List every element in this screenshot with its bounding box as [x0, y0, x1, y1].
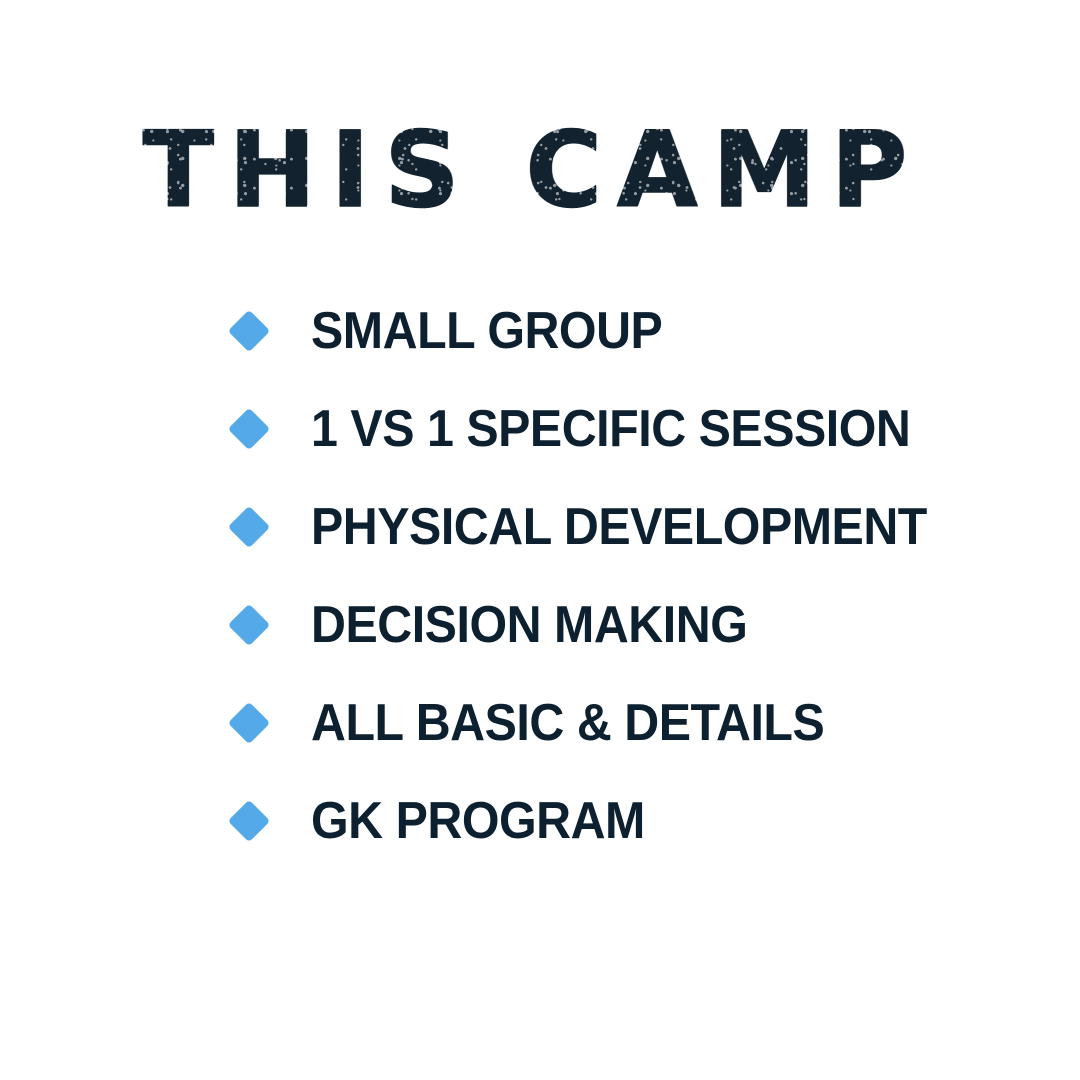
list-item: 1 VS 1 SPECIFIC SESSION — [228, 380, 1048, 478]
list-item: DECISION MAKING — [228, 576, 1048, 674]
list-item: SMALL GROUP — [228, 282, 1048, 380]
list-item: PHYSICAL DEVELOPMENT — [228, 478, 1048, 576]
feature-label: SMALL GROUP — [311, 305, 662, 357]
feature-label: 1 VS 1 SPECIFIC SESSION — [311, 403, 910, 455]
diamond-icon — [228, 310, 270, 352]
feature-label: DECISION MAKING — [311, 599, 747, 651]
poster-canvas: THIS CAMP SMALL GROUP 1 VS 1 SPECIFIC SE… — [0, 0, 1080, 1080]
feature-label: PHYSICAL DEVELOPMENT — [311, 501, 927, 553]
diamond-icon — [228, 604, 270, 646]
list-item: ALL BASIC & DETAILS — [228, 674, 1048, 772]
page-title: THIS CAMP — [143, 116, 937, 225]
feature-label: ALL BASIC & DETAILS — [311, 697, 824, 749]
diamond-icon — [228, 800, 270, 842]
feature-list: SMALL GROUP 1 VS 1 SPECIFIC SESSION PHYS… — [228, 282, 1048, 870]
diamond-icon — [228, 408, 270, 450]
diamond-icon — [228, 506, 270, 548]
feature-label: GK PROGRAM — [311, 795, 645, 847]
diamond-icon — [228, 702, 270, 744]
page-title-block: THIS CAMP — [0, 46, 1080, 295]
list-item: GK PROGRAM — [228, 772, 1048, 870]
